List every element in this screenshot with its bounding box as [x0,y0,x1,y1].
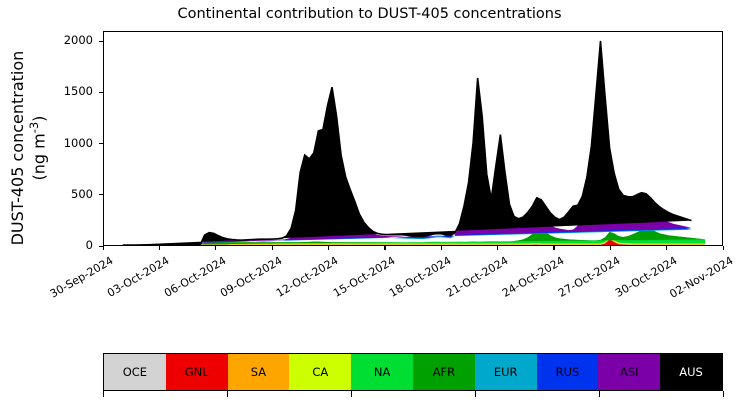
x-tick-mark [159,246,160,250]
y-tick-label: 0 [41,238,93,252]
x-tick-mark [384,246,385,250]
y-tick-label: 1500 [41,84,93,98]
y-tick-mark [99,41,103,42]
colorbar-tick [351,391,352,397]
colorbar-tick [227,391,228,397]
x-tick-mark [497,246,498,250]
colorbar-tick [599,391,600,397]
legend-item-afr[interactable]: AFR [413,354,475,390]
legend-item-eur[interactable]: EUR [475,354,537,390]
x-tick-mark [441,246,442,250]
y-tick-mark [99,92,103,93]
legend-item-sa[interactable]: SA [228,354,290,390]
colorbar-ticks [103,391,723,398]
x-tick-mark [272,246,273,250]
colorbar-legend: OCEGNLSACANAAFREURRUSASIAUS [103,353,723,391]
chart-figure: Continental contribution to DUST-405 con… [0,0,739,402]
x-tick-mark [666,246,667,250]
x-tick-mark [215,246,216,250]
y-tick-label: 500 [41,187,93,201]
plot-area [103,31,723,246]
y-tick-mark [99,194,103,195]
x-tick-mark [328,246,329,250]
y-tick-mark [99,143,103,144]
x-tick-mark [610,246,611,250]
legend-item-ca[interactable]: CA [289,354,351,390]
area-aus [123,41,692,245]
stacked-area-svg [104,32,722,245]
x-tick-mark [103,246,104,250]
legend-item-asi[interactable]: ASI [598,354,660,390]
y-axis-label-line1: DUST-405 concentration [8,51,27,246]
x-tick-mark [723,246,724,250]
colorbar-tick [475,391,476,397]
legend-item-na[interactable]: NA [351,354,413,390]
colorbar-tick [103,391,104,397]
x-tick-mark [553,246,554,250]
y-tick-label: 1000 [41,136,93,150]
legend-item-aus[interactable]: AUS [660,354,722,390]
legend-item-oce[interactable]: OCE [104,354,166,390]
legend-item-rus[interactable]: RUS [537,354,599,390]
colorbar-tick [723,391,724,397]
y-tick-label: 2000 [41,33,93,47]
legend-item-gnl[interactable]: GNL [166,354,228,390]
chart-title: Continental contribution to DUST-405 con… [0,6,739,22]
